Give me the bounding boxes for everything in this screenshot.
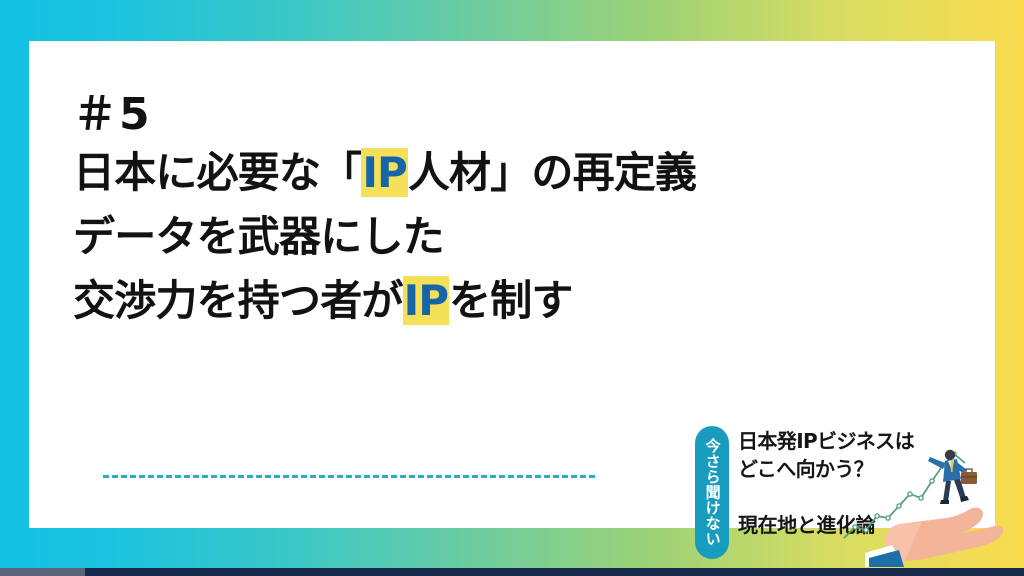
headline-line-2: データを武器にした <box>73 205 773 269</box>
ip-highlight-line-1: IP <box>361 148 407 197</box>
ip-highlight-line-3: IP <box>403 276 449 325</box>
headline-line-3-post: を制す <box>449 276 573 325</box>
hand-shape <box>885 508 1004 563</box>
dashed-divider <box>103 475 595 478</box>
player-progress-track[interactable] <box>0 568 1024 576</box>
headline-line-1-pre: 日本に必要な「 <box>73 148 361 197</box>
headline-line-1-post: 人材」の再定義 <box>408 148 696 197</box>
headline-line-3-pre: 交渉力を持つ者が <box>73 276 403 325</box>
headline-line-1: 日本に必要な「IP人材」の再定義 <box>73 141 773 205</box>
content-card: ＃5 日本に必要な「IP人材」の再定義 データを武器にした 交渉力を持つ者がIP… <box>29 41 995 528</box>
headline-line-3: 交渉力を持つ者がIPを制す <box>73 269 773 333</box>
player-progress-fill[interactable] <box>0 568 85 576</box>
headline-block: ＃5 日本に必要な「IP人材」の再定義 データを武器にした 交渉力を持つ者がIP… <box>73 89 773 332</box>
growth-chart-hand-illustration <box>842 432 1012 567</box>
slide-canvas: ＃5 日本に必要な「IP人材」の再定義 データを武器にした 交渉力を持つ者がIP… <box>0 0 1024 576</box>
series-badge: 今さら聞けない <box>695 426 729 559</box>
program-logo-lockup: 今さら聞けない 日本発IPビジネスは どこへ向かう？ 現在地と進化論 <box>692 424 1012 569</box>
episode-number: ＃5 <box>73 89 773 141</box>
